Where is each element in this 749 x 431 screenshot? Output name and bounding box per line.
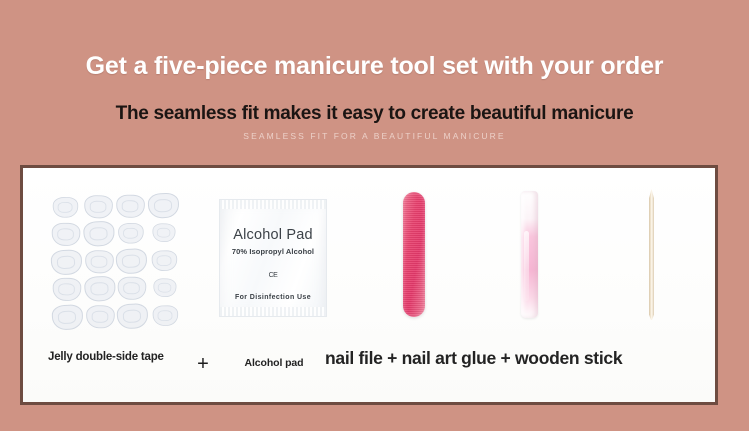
packet-ce-mark: CE bbox=[220, 272, 326, 279]
jelly-tape-tab bbox=[151, 250, 176, 271]
product-panel-inner: Alcohol Pad 70% Isopropyl Alcohol CE For… bbox=[23, 168, 715, 402]
jelly-tape-tab bbox=[53, 197, 78, 218]
packet-footer: For Disinfection Use bbox=[220, 294, 326, 301]
jelly-tape-tab bbox=[152, 223, 175, 243]
product-image-row: Alcohol Pad 70% Isopropyl Alcohol CE For… bbox=[23, 168, 715, 340]
caption-alcohol-pad: Alcohol pad bbox=[219, 357, 329, 370]
product-image-nail-art-glue bbox=[485, 168, 585, 340]
nail-art-glue-shape bbox=[521, 191, 538, 318]
jelly-tape-tab bbox=[51, 304, 83, 331]
jelly-tape-tab bbox=[152, 305, 177, 326]
product-image-jelly-double-side-tape bbox=[47, 168, 189, 340]
promo-headline: Get a five-piece manicure tool set with … bbox=[0, 52, 749, 81]
jelly-tape-tab bbox=[85, 250, 113, 274]
product-image-wooden-stick bbox=[601, 168, 701, 340]
jelly-tape-tab bbox=[52, 223, 80, 247]
wooden-stick-shape bbox=[649, 189, 654, 320]
jelly-tape-tab bbox=[84, 195, 112, 219]
jelly-tape-tab bbox=[116, 194, 144, 218]
product-image-alcohol-pad: Alcohol Pad 70% Isopropyl Alcohol CE For… bbox=[209, 168, 337, 340]
product-image-nail-file bbox=[371, 168, 471, 340]
product-panel: Alcohol Pad 70% Isopropyl Alcohol CE For… bbox=[20, 165, 718, 405]
jelly-tape-tab bbox=[85, 305, 113, 329]
packet-title: Alcohol Pad bbox=[220, 227, 326, 243]
jelly-tape-tab bbox=[118, 223, 143, 244]
caption-jelly-double-side-tape: Jelly double-side tape bbox=[48, 350, 173, 364]
jelly-tape-tab bbox=[83, 276, 115, 303]
jelly-tape-tab bbox=[82, 221, 114, 248]
caption-plus-separator: + bbox=[190, 352, 216, 377]
jelly-tape-tab bbox=[115, 248, 147, 275]
jelly-tape-tab bbox=[116, 303, 148, 330]
promo-subheadline: The seamless fit makes it easy to create… bbox=[0, 103, 749, 125]
promo-eyebrow-text: SEAMLESS FIT FOR A BEAUTIFUL MANICURE bbox=[0, 131, 749, 141]
alcohol-pad-packet: Alcohol Pad 70% Isopropyl Alcohol CE For… bbox=[219, 199, 327, 317]
packet-subtitle: 70% Isopropyl Alcohol bbox=[220, 247, 326, 256]
caption-remaining-tools: nail file + nail art glue + wooden stick bbox=[325, 348, 705, 370]
jelly-tape-tab bbox=[147, 192, 179, 219]
jelly-tape-tab bbox=[50, 249, 82, 276]
jelly-tape-tab bbox=[153, 278, 176, 298]
jelly-tape-grid bbox=[50, 193, 180, 330]
product-caption-row: Jelly double-side tape + Alcohol pad nai… bbox=[23, 340, 715, 402]
nail-file-shape bbox=[403, 192, 425, 317]
jelly-tape-tab bbox=[53, 278, 81, 302]
jelly-tape-tab bbox=[117, 277, 145, 301]
